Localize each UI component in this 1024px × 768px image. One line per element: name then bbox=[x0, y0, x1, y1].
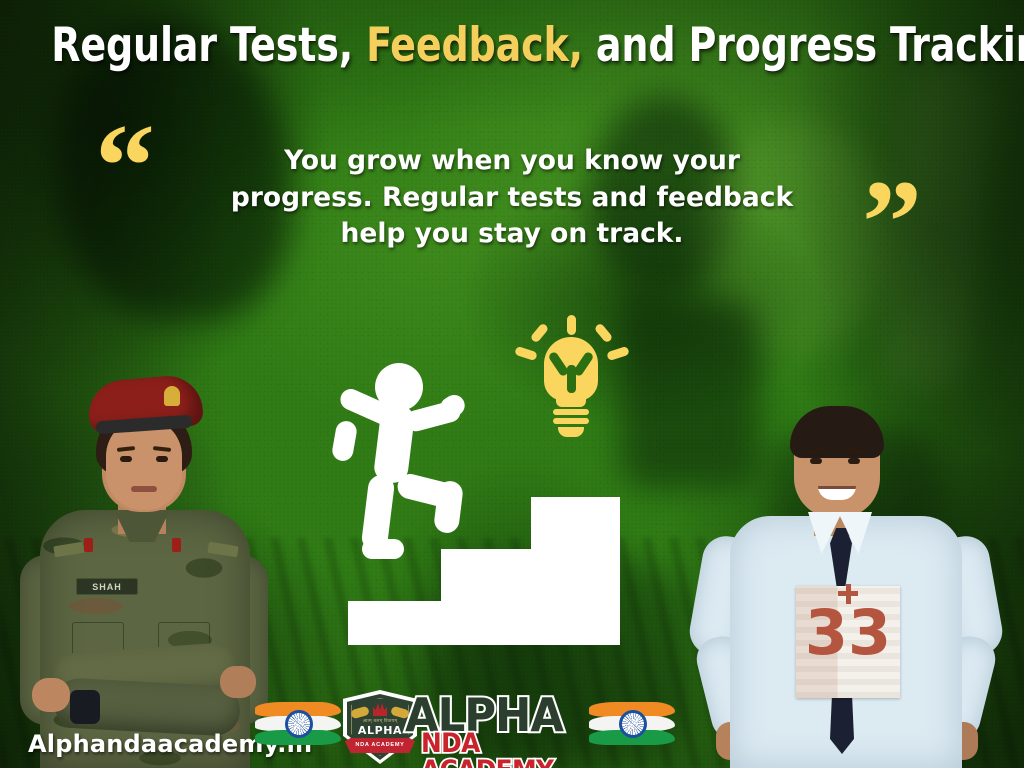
shield-name: ALPHA bbox=[353, 724, 407, 737]
officer-hand bbox=[32, 678, 70, 712]
candidate-eye bbox=[810, 458, 822, 464]
lightbulb-ray bbox=[606, 346, 630, 361]
brand-logo-bar: आत्म् बलम् विजयम् ALPHA NDA ACADEMY ALPH… bbox=[255, 688, 675, 766]
title-part-one: Regular Tests, bbox=[51, 18, 366, 73]
lightbulb-ray bbox=[530, 322, 550, 343]
title-highlight: Feedback, bbox=[366, 18, 583, 73]
progress-icon-group bbox=[340, 315, 630, 645]
officer-mouth bbox=[131, 486, 157, 492]
shoulder-pip bbox=[84, 538, 93, 552]
quote-line-3: help you stay on track. bbox=[212, 216, 812, 253]
lightbulb-base-ring bbox=[553, 409, 589, 415]
officer-eye bbox=[120, 456, 132, 462]
indian-flag-icon bbox=[255, 700, 341, 750]
beret-badge-icon bbox=[164, 386, 180, 406]
quote-line-1: You grow when you know your bbox=[212, 143, 812, 180]
lightbulb-base-tip bbox=[558, 427, 584, 437]
lightbulb-ray bbox=[594, 322, 614, 343]
officer-name-tag: SHAH bbox=[76, 578, 138, 595]
quote-open-mark: “ bbox=[95, 106, 155, 226]
officer-eye bbox=[156, 456, 168, 462]
quote-close-mark: ” bbox=[862, 162, 922, 282]
idea-lightbulb-icon bbox=[515, 315, 627, 445]
lightbulb-ray bbox=[567, 315, 576, 335]
stair-step bbox=[348, 601, 441, 645]
female-officer-photo: SHAH bbox=[0, 360, 287, 768]
brand-wordmark: ALPHA NDA ACADEMY bbox=[405, 690, 615, 762]
lightbulb-filament bbox=[567, 365, 576, 393]
lightbulb-base-ring bbox=[553, 418, 589, 424]
figure-head bbox=[375, 363, 423, 411]
male-candidate-photo: 33 bbox=[672, 388, 1024, 768]
person-climbing-stairs-icon bbox=[340, 363, 465, 543]
ashoka-chakra-icon bbox=[619, 710, 647, 738]
lightbulb-ray bbox=[514, 346, 538, 361]
figure-foot-back bbox=[362, 539, 404, 559]
page-title: Regular Tests, Feedback, and Progress Tr… bbox=[51, 22, 973, 69]
promotional-poster: Regular Tests, Feedback, and Progress Tr… bbox=[0, 0, 1024, 768]
officer-hand bbox=[220, 666, 256, 698]
lightbulb-neck bbox=[556, 391, 586, 407]
quote-text: You grow when you know your progress. Re… bbox=[212, 143, 812, 253]
chest-number: 33 bbox=[796, 602, 900, 664]
shoulder-pip bbox=[172, 538, 181, 552]
ashoka-chakra-icon bbox=[285, 710, 313, 738]
indian-flag-icon bbox=[589, 700, 675, 750]
figure-shin-front bbox=[433, 480, 464, 535]
quote-line-2: progress. Regular tests and feedback bbox=[212, 180, 812, 217]
candidate-eye bbox=[848, 458, 860, 464]
wristwatch-icon bbox=[70, 690, 100, 724]
candidate-hair bbox=[790, 406, 884, 458]
stair-step bbox=[531, 497, 620, 645]
title-part-two: and Progress Tracking bbox=[583, 18, 1024, 73]
stair-step bbox=[441, 549, 531, 645]
